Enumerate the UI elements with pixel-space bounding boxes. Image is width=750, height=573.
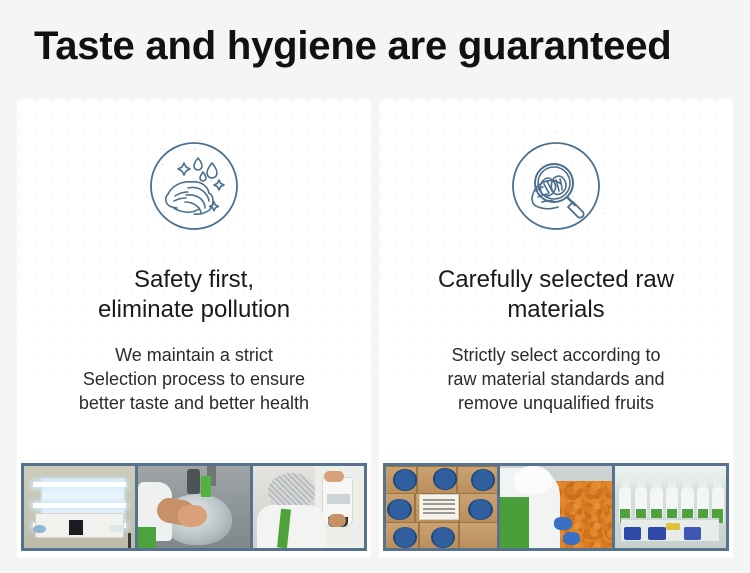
soap-dispenser-worker-photo: [253, 466, 364, 548]
card-body-line-3: remove unqualified fruits: [447, 391, 664, 415]
uv-steriliser-cabinet-photo: [24, 466, 135, 548]
card-heading-line-2: materials: [438, 295, 674, 325]
card-body: We maintain a strict Selection process t…: [79, 343, 309, 415]
feature-card-raw-materials: Carefully selected raw materials Strictl…: [379, 99, 733, 557]
card-body-line-2: Selection process to ensure: [79, 367, 309, 391]
photo-strip: [383, 463, 729, 551]
card-body-line-1: We maintain a strict: [79, 343, 309, 367]
card-body-line-3: better taste and better health: [79, 391, 309, 415]
card-body-line-2: raw material standards and: [447, 367, 664, 391]
card-heading: Carefully selected raw materials: [438, 265, 674, 325]
card-heading-line-1: Carefully selected raw: [438, 265, 674, 295]
card-body: Strictly select according to raw materia…: [447, 343, 664, 415]
worker-sorting-dried-fruit-photo: [500, 466, 611, 548]
card-body-line-1: Strictly select according to: [447, 343, 664, 367]
handwashing-icon: [144, 136, 244, 236]
card-heading-line-1: Safety first,: [98, 265, 290, 295]
feature-card-safety: Safety first, eliminate pollution We mai…: [17, 99, 371, 557]
stacked-cartons-photo: [386, 466, 497, 548]
card-heading: Safety first, eliminate pollution: [98, 265, 290, 325]
production-line-photo: [615, 466, 726, 548]
handwashing-sink-photo: [138, 466, 249, 548]
feature-cards-row: Safety first, eliminate pollution We mai…: [17, 99, 733, 557]
magnifier-nuts-icon: [506, 136, 606, 236]
page-title: Taste and hygiene are guaranteed: [34, 24, 672, 69]
card-heading-line-2: eliminate pollution: [98, 295, 290, 325]
photo-strip: [21, 463, 367, 551]
